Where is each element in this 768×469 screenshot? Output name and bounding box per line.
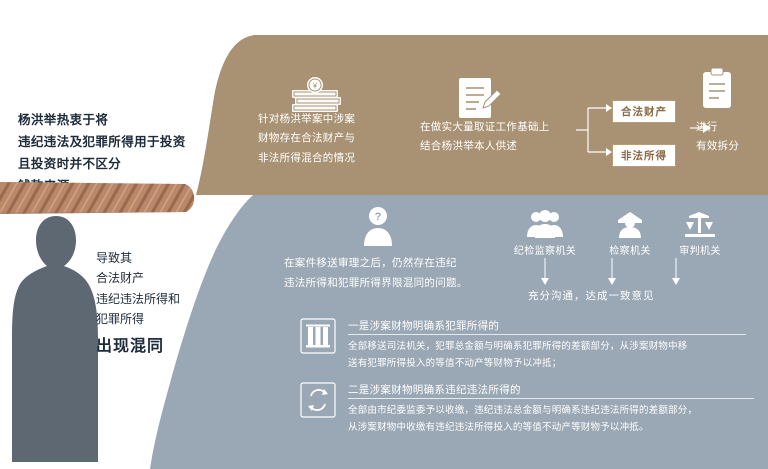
left-subtitle: 导致其 合法财产 违纪违法所得和 犯罪所得 出现混同 bbox=[96, 248, 206, 360]
prosecutor-person-icon bbox=[614, 210, 646, 238]
bank-building-icon bbox=[300, 318, 336, 359]
subtitle-line-2: 合法财产 bbox=[96, 268, 206, 288]
bottom-issue-line-1: 在案件移送审理之后，仍然存在违纪 bbox=[284, 254, 468, 274]
paragraph-1-line-2: 送有犯罪所得投入的等值不动产等财物予以冲抵； bbox=[348, 355, 748, 372]
top-step-1-line-3: 非法所得混合的情况 bbox=[258, 149, 355, 168]
document-icon-shape bbox=[700, 68, 734, 110]
consensus-arrows bbox=[486, 258, 726, 288]
branch-bracket bbox=[576, 100, 612, 160]
recycle-arrows-icon bbox=[300, 382, 336, 423]
tag-illegal-gains: 非法所得 bbox=[612, 144, 676, 167]
consensus-text: 充分沟通，达成一致意见 bbox=[528, 288, 655, 303]
tag-legal-property: 合法财产 bbox=[612, 100, 676, 123]
top-step-1-text: 针对杨洪举案中涉案 财物存在合法财产与 非法所得混合的情况 bbox=[258, 110, 355, 168]
bottom-issue-line-2: 违法所得和犯罪所得界限混同的问题。 bbox=[284, 274, 468, 294]
paragraph-2-head: 二是涉案财物明确系违纪违法所得的 bbox=[348, 382, 758, 397]
question-mark-head-icon-shape: ? bbox=[356, 206, 400, 246]
gavel-scales-icon bbox=[683, 210, 717, 238]
top-step-2-text: 在做实大量取证工作基础上 结合杨洪举本人供述 bbox=[420, 118, 550, 157]
paragraph-2-body: 全部由市纪委监委予以收缴，违纪违法总金额与明确系违纪违法所得的差额部分， 从涉案… bbox=[348, 402, 758, 436]
top-step-1-line-2: 财物存在合法财产与 bbox=[258, 129, 355, 148]
bottom-issue-text: 在案件移送审理之后，仍然存在违纪 违法所得和犯罪所得界限混同的问题。 bbox=[284, 254, 468, 294]
headline-line-3: 且投资时并不区分 bbox=[18, 154, 218, 176]
bank-building-icon-shape bbox=[300, 318, 336, 354]
subtitle-emphasis: 出现混同 bbox=[96, 333, 206, 360]
paragraph-2-line-2: 从涉案财物中收缴有违纪违法所得投入的等值不动产等财物予以冲抵。 bbox=[348, 419, 758, 436]
person-silhouette-icon bbox=[10, 212, 102, 462]
svg-text:?: ? bbox=[375, 211, 382, 223]
subtitle-line-1: 导致其 bbox=[96, 248, 206, 268]
top-step-1-line-1: 针对杨洪举案中涉案 bbox=[258, 110, 355, 129]
subtitle-line-3: 违纪违法所得和 bbox=[96, 289, 206, 309]
paragraph-1-line-1: 全部移送司法机关，犯罪总金额与明确系犯罪所得的差额部分，从涉案财物中移 bbox=[348, 338, 748, 355]
paragraph-2-divider bbox=[348, 398, 754, 399]
paragraph-1-head: 一是涉案财物明确系犯罪所得的 bbox=[348, 318, 748, 333]
subtitle-line-4: 犯罪所得 bbox=[96, 309, 206, 329]
paragraph-1-body: 全部移送司法机关，犯罪总金额与明确系犯罪所得的差额部分，从涉案财物中移 送有犯罪… bbox=[348, 338, 748, 372]
headline-line-2: 违纪违法及犯罪所得用于投资 bbox=[18, 132, 218, 154]
organ-label-1: 纪检监察机关 bbox=[500, 242, 590, 257]
clipboard-checklist-icon-shape bbox=[455, 76, 501, 120]
recycle-arrows-icon-shape bbox=[300, 382, 336, 418]
top-step-2-line-2: 结合杨洪举本人供述 bbox=[420, 137, 550, 156]
top-result-line-1: 进行 bbox=[696, 118, 739, 137]
paragraph-2-line-1: 全部由市纪委监委予以收缴，违纪违法总金额与明确系违纪违法所得的差额部分， bbox=[348, 402, 758, 419]
document-icon bbox=[700, 68, 734, 115]
top-step-2-line-1: 在做实大量取证工作基础上 bbox=[420, 118, 550, 137]
organ-discipline-inspection: 纪检监察机关 bbox=[500, 210, 590, 257]
top-result-text: 进行 有效拆分 bbox=[696, 118, 739, 157]
top-result-line-2: 有效拆分 bbox=[696, 137, 739, 156]
organ-label-3: 审判机关 bbox=[655, 242, 745, 257]
question-mark-head-icon: ? bbox=[356, 206, 400, 251]
headline-line-1: 杨洪举热衷于将 bbox=[18, 110, 218, 132]
paragraph-1: 一是涉案财物明确系犯罪所得的 全部移送司法机关，犯罪总金额与明确系犯罪所得的差额… bbox=[348, 318, 748, 372]
svg-text:¥: ¥ bbox=[312, 82, 318, 91]
paragraph-2: 二是涉案财物明确系违纪违法所得的 全部由市纪委监委予以收缴，违纪违法总金额与明确… bbox=[348, 382, 758, 436]
person-silhouette-shape bbox=[10, 212, 102, 462]
paragraph-1-divider bbox=[348, 334, 746, 335]
diagram-canvas: 杨洪举热衷于将 违纪违法及犯罪所得用于投资 且投资时并不区分 钱款来源 bbox=[0, 0, 768, 469]
organ-court: 审判机关 bbox=[655, 210, 745, 257]
group-people-icon bbox=[525, 210, 565, 238]
